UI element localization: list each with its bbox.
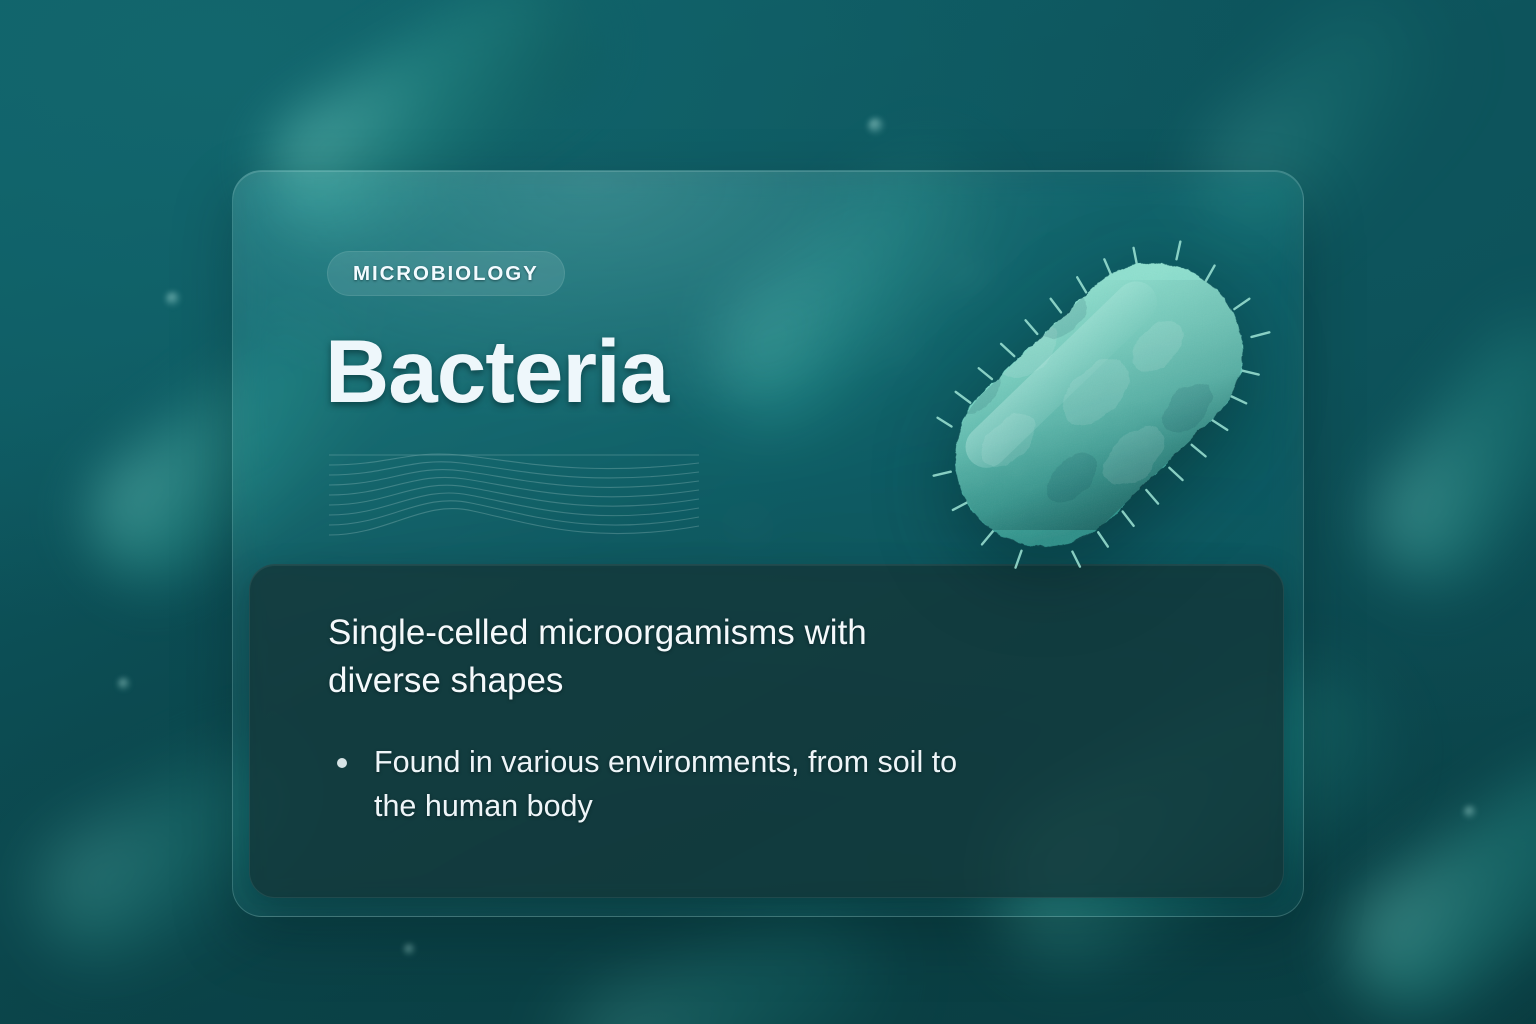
- category-badge: MICROBIOLOGY: [327, 251, 565, 296]
- decorative-wave-lines: [329, 451, 699, 547]
- category-badge-label: MICROBIOLOGY: [353, 262, 539, 286]
- list-item-label: Found in various environments, from soil…: [374, 745, 957, 823]
- background-spore: [118, 678, 130, 690]
- lead-paragraph: Single-celled microorgamisms with divers…: [328, 609, 948, 704]
- description-panel: Single-celled microorgamisms with divers…: [249, 564, 1284, 898]
- info-card: MICROBIOLOGY Bacteria Single-celled micr…: [232, 170, 1304, 917]
- slide-canvas: MICROBIOLOGY Bacteria Single-celled micr…: [0, 0, 1536, 1024]
- background-spore: [166, 292, 180, 306]
- bullet-dot-icon: [337, 758, 347, 768]
- bullet-list: Found in various environments, from soil…: [332, 741, 972, 829]
- page-title: Bacteria: [325, 327, 668, 416]
- background-spore: [868, 118, 884, 134]
- background-spore: [1464, 806, 1476, 818]
- list-item: Found in various environments, from soil…: [332, 741, 972, 829]
- background-bacterium-rod: [1350, 295, 1536, 605]
- background-spore: [404, 944, 415, 955]
